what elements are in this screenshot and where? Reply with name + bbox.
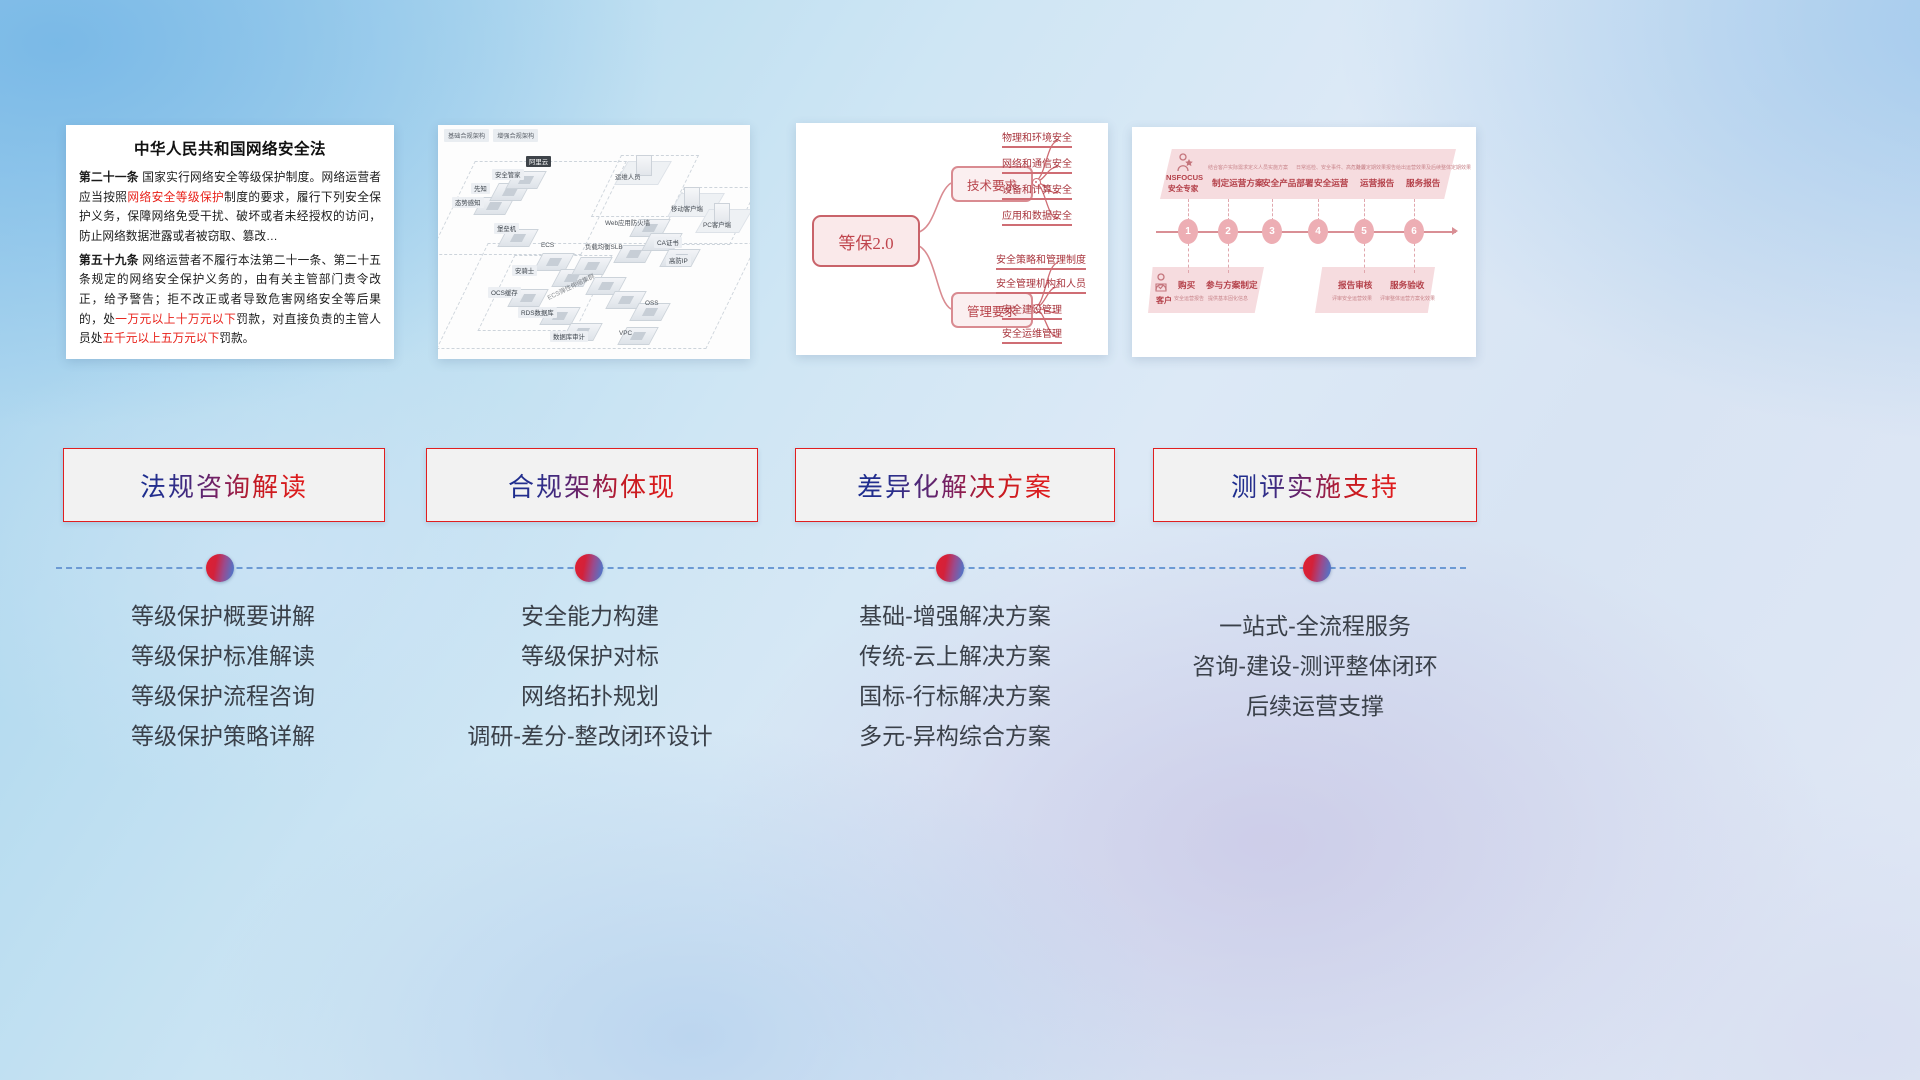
law-highlight-text: 五千元以上五万元以下 <box>102 332 219 345</box>
arch-node-mobile: 移动客户端 <box>668 203 706 214</box>
arch-node-ca: CA证书 <box>654 237 682 248</box>
section-title-label-4: 测评实施支持 <box>1231 467 1399 504</box>
timeline-dot-1[interactable] <box>206 554 234 582</box>
list-item: 多元-异构综合方案 <box>790 725 1120 748</box>
section-title-label-3: 差异化解决方案 <box>857 467 1053 504</box>
mindmap-leaf-m2: 安全管理机构和人员 <box>996 275 1086 294</box>
nsfocus-bottom-title-5: 报告审核 <box>1338 279 1372 291</box>
expert-person-icon <box>1176 153 1194 173</box>
law-paragraph-2: 第五十九条 网络运营者不履行本法第二十一条、第二十五条规定的网络安全保护义务的，… <box>79 251 381 349</box>
nsfocus-step-node-1: 1 <box>1178 219 1198 244</box>
mindmap-leaf-m4: 安全运维管理 <box>1002 325 1062 344</box>
law-article-label: 第五十九条 <box>79 254 139 267</box>
section-title-box-1[interactable]: 法规咨询解读 <box>63 448 385 522</box>
law-body-text: 罚款。 <box>219 332 254 345</box>
arch-node-ocs-cache: OCS缓存 <box>488 287 521 298</box>
nsfocus-top-title-1: 制定运营方案 <box>1212 177 1264 189</box>
arch-node-oss: OSS <box>642 299 662 308</box>
nsfocus-step-node-6: 6 <box>1404 219 1424 244</box>
mindmap-leaf-t2: 网络和通信安全 <box>1002 155 1072 174</box>
arch-node-aliyun: 阿里云 <box>526 156 551 167</box>
arch-tabs: 基础合规架构 增强合规架构 <box>444 129 538 142</box>
list-item: 调研-差分-整改闭环设计 <box>415 725 765 748</box>
card-cybersecurity-law: 中华人民共和国网络安全法 第二十一条 国家实行网络安全等级保护制度。网络运营者应… <box>66 125 394 359</box>
arch-node-ops-staff: 运维人员 <box>612 171 644 182</box>
nsfocus-step-node-4: 4 <box>1308 219 1328 244</box>
arch-node-slb: 负载均衡SLB <box>582 241 626 252</box>
list-item: 等级保护流程咨询 <box>63 685 383 708</box>
list-item: 等级保护标准解读 <box>63 645 383 668</box>
arch-tab-basic: 基础合规架构 <box>444 129 489 142</box>
section-title-box-4[interactable]: 测评实施支持 <box>1153 448 1477 522</box>
mindmap-leaf-m3: 安全建设管理 <box>1002 301 1062 320</box>
arch-node-vpc: VPC <box>616 329 635 338</box>
arch-node-pc: PC客户端 <box>700 219 734 230</box>
arch-node-anti-ddos: 高防IP <box>666 255 691 266</box>
nsfocus-bottom-title-2: 参与方案制定 <box>1206 279 1258 291</box>
arch-node-waf: Web应用防火墙 <box>602 217 653 228</box>
card-mindmap-dengbao: 等保2.0 技术要求 管理要求 物理和环境安全 网络和通信安全 设备和计算安全 … <box>796 123 1108 355</box>
nsfocus-top-sub-1: 结合客户实际需求定义人员 <box>1208 164 1268 171</box>
nsfocus-top-title-2: 安全产品部署 <box>1262 177 1314 189</box>
section-title-label-1: 法规咨询解读 <box>140 467 308 504</box>
card-nsfocus-service-flow: NSFOCUS 安全专家 客户 结合客户实际需求定义人员 制定运营方案 实施方案… <box>1132 127 1476 357</box>
section-title-label-2: 合规架构体现 <box>508 467 676 504</box>
law-title: 中华人民共和国网络安全法 <box>79 137 381 159</box>
list-item: 一站式-全流程服务 <box>1145 615 1485 638</box>
arch-node-xianzhi: 先知 <box>471 183 490 194</box>
nsfocus-top-title-4: 运营报告 <box>1360 177 1394 189</box>
section-item-list-1: 等级保护概要讲解 等级保护标准解读 等级保护流程咨询 等级保护策略详解 <box>63 605 383 765</box>
arch-tab-enhanced: 增强合规架构 <box>493 129 538 142</box>
mindmap-leaf-t4: 应用和数据安全 <box>1002 207 1072 226</box>
nsfocus-step-node-5: 5 <box>1354 219 1374 244</box>
nsfocus-bottom-sub-5: 评审安全运营效果 <box>1332 295 1372 302</box>
nsfocus-step-node-3: 3 <box>1262 219 1282 244</box>
nsfocus-top-sub-5: 给出运营效果及后续整体定期效果 <box>1396 164 1471 171</box>
mindmap-root: 等保2.0 <box>812 215 920 267</box>
section-item-list-4: 一站式-全流程服务 咨询-建设-测评整体闭环 后续运营支撑 <box>1145 615 1485 735</box>
arch-node-situational: 态势感知 <box>452 197 484 208</box>
arch-node-anqishi: 安骑士 <box>512 265 537 276</box>
nsfocus-step-node-2: 2 <box>1218 219 1238 244</box>
arch-node-rds: RDS数据库 <box>518 307 557 318</box>
arch-node-security-butler: 安全管家 <box>492 169 524 180</box>
law-article-label: 第二十一条 <box>79 171 139 184</box>
nsfocus-top-sub-2: 实施方案 <box>1268 164 1288 171</box>
nsfocus-expert-role: 安全专家 <box>1168 183 1198 194</box>
timeline-dot-4[interactable] <box>1303 554 1331 582</box>
card-cloud-architecture: 基础合规架构 增强合规架构 <box>438 125 750 359</box>
section-item-list-3: 基础-增强解决方案 传统-云上解决方案 国标-行标解决方案 多元-异构综合方案 <box>790 605 1120 765</box>
nsfocus-customer-label: 客户 <box>1156 295 1172 306</box>
list-item: 等级保护策略详解 <box>63 725 383 748</box>
nsfocus-expert-name: NSFOCUS <box>1166 173 1203 182</box>
nsfocus-bottom-sub-1: 安全运营报告 <box>1174 295 1204 302</box>
list-item: 等级保护概要讲解 <box>63 605 383 628</box>
mindmap-leaf-t3: 设备和计算安全 <box>1002 181 1072 200</box>
law-highlight-text: 网络安全等级保护 <box>127 191 224 204</box>
section-title-box-3[interactable]: 差异化解决方案 <box>795 448 1115 522</box>
timeline-dot-3[interactable] <box>936 554 964 582</box>
nsfocus-top-title-5: 服务报告 <box>1406 177 1440 189</box>
list-item: 基础-增强解决方案 <box>790 605 1120 628</box>
nsfocus-bottom-sub-2: 提供基本固化信息 <box>1208 295 1248 302</box>
section-item-list-2: 安全能力构建 等级保护对标 网络拓扑规划 调研-差分-整改闭环设计 <box>415 605 765 765</box>
list-item: 国标-行标解决方案 <box>790 685 1120 708</box>
list-item: 网络拓扑规划 <box>415 685 765 708</box>
list-item: 后续运营支撑 <box>1145 695 1485 718</box>
nsfocus-top-band <box>1160 149 1456 199</box>
timeline-dashed-line <box>56 567 1466 569</box>
mindmap-leaf-t1: 物理和环境安全 <box>1002 129 1072 148</box>
nsfocus-top-sub-4: 阶段定期效果报告 <box>1356 164 1396 171</box>
timeline-dot-2[interactable] <box>575 554 603 582</box>
mindmap-leaf-m1: 安全策略和管理制度 <box>996 251 1086 270</box>
arch-node-db-audit: 数据库审计 <box>550 331 588 342</box>
arch-node-ecs: ECS <box>538 241 557 250</box>
section-title-box-2[interactable]: 合规架构体现 <box>426 448 758 522</box>
customer-person-icon <box>1154 273 1170 293</box>
list-item: 传统-云上解决方案 <box>790 645 1120 668</box>
law-highlight-text: 一万元以上十万元以下 <box>115 313 236 326</box>
list-item: 安全能力构建 <box>415 605 765 628</box>
law-paragraph-1: 第二十一条 国家实行网络安全等级保护制度。网络运营者应当按照网络安全等级保护制度… <box>79 168 381 247</box>
list-item: 咨询-建设-测评整体闭环 <box>1145 655 1485 678</box>
nsfocus-bottom-sub-6: 评审整体运营方案化效果 <box>1380 295 1435 302</box>
arch-node-bastion: 堡垒机 <box>494 223 519 234</box>
list-item: 等级保护对标 <box>415 645 765 668</box>
nsfocus-top-title-3: 安全运营 <box>1314 177 1348 189</box>
nsfocus-bottom-title-1: 购买 <box>1178 279 1195 291</box>
nsfocus-bottom-title-6: 服务验收 <box>1390 279 1424 291</box>
